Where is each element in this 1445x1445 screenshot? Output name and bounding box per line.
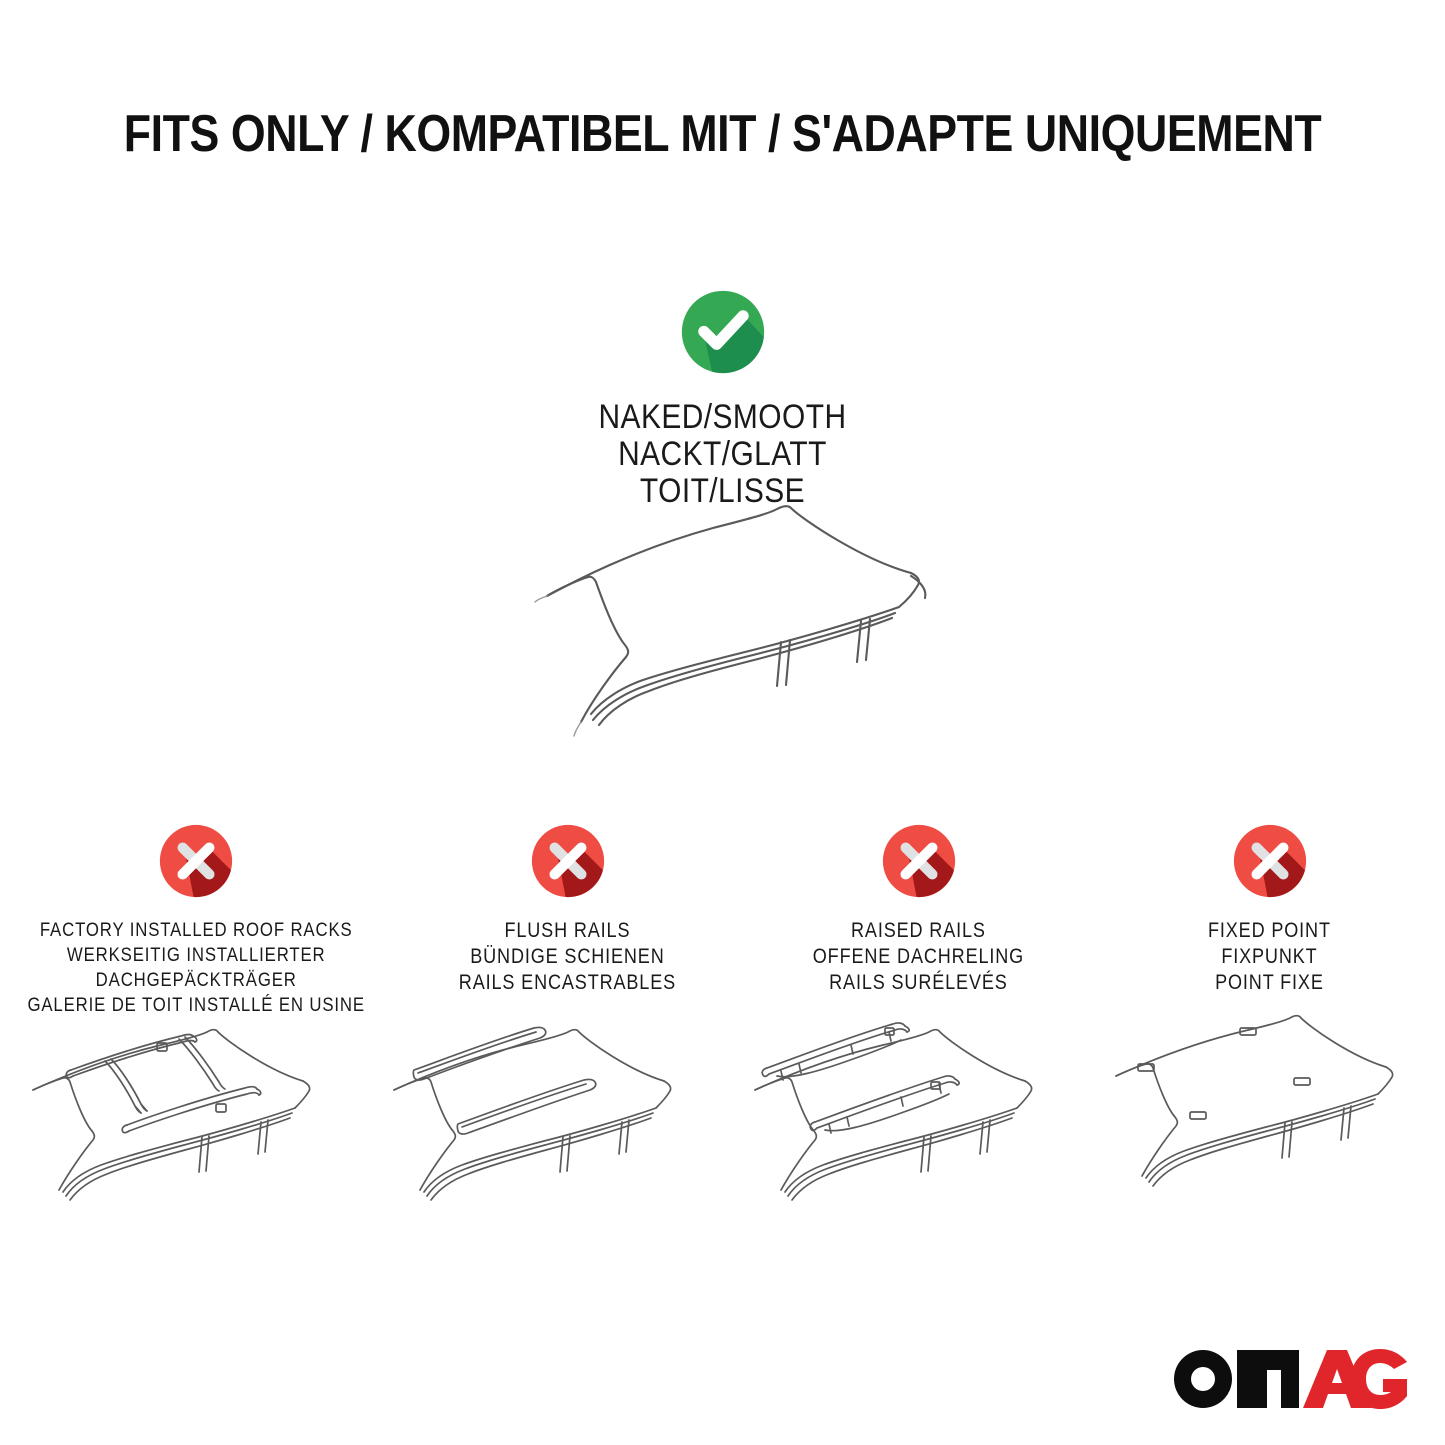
compatibility-infographic: FITS ONLY / KOMPATIBEL MIT / S'ADAPTE UN… — [0, 0, 1445, 1445]
compatible-section: NAKED/SMOOTH NACKT/GLATT TOIT/LISSE — [0, 283, 1445, 510]
cross-circle-icon — [153, 818, 239, 904]
car-roof-flush-rails-illustration — [361, 1012, 722, 1242]
incompatible-label-en: FLUSH RAILS — [417, 918, 719, 944]
incompatible-item-flush-rails: FLUSH RAILS BÜNDIGE SCHIENEN RAILS ENCAS… — [392, 818, 743, 996]
incompatible-label-fr: POINT FIXE — [1119, 970, 1421, 996]
incompatible-label-de-2: DACHGEPÄCKTRÄGER — [27, 968, 364, 993]
incompatible-label-fr: RAILS ENCASTRABLES — [417, 970, 719, 996]
car-roof-raised-rails-illustration — [723, 1012, 1084, 1242]
incompatible-label-de: FIXPUNKT — [1119, 944, 1421, 970]
incompatible-item-factory-roof-racks: FACTORY INSTALLED ROOF RACKS WERKSEITIG … — [0, 818, 392, 1018]
cross-circle-icon — [1227, 818, 1313, 904]
compatible-label-de: NACKT/GLATT — [87, 436, 1359, 473]
incompatible-label-de-1: WERKSEITIG INSTALLIERTER — [27, 943, 364, 968]
incompatible-row: FACTORY INSTALLED ROOF RACKS WERKSEITIG … — [0, 818, 1445, 1018]
cross-circle-icon — [876, 818, 962, 904]
page-title: FITS ONLY / KOMPATIBEL MIT / S'ADAPTE UN… — [101, 103, 1344, 165]
incompatible-labels: FLUSH RAILS BÜNDIGE SCHIENEN RAILS ENCAS… — [417, 918, 719, 996]
car-roof-fixed-point-illustration — [1084, 1012, 1445, 1242]
incompatible-label-de: OFFENE DACHRELING — [768, 944, 1070, 970]
incompatible-label-fr: RAILS SURÉLEVÉS — [768, 970, 1070, 996]
incompatible-labels: FACTORY INSTALLED ROOF RACKS WERKSEITIG … — [27, 918, 364, 1018]
incompatible-labels: RAISED RAILS OFFENE DACHRELING RAILS SUR… — [768, 918, 1070, 996]
incompatible-item-raised-rails: RAISED RAILS OFFENE DACHRELING RAILS SUR… — [743, 818, 1094, 996]
car-roof-factory-roof-racks-illustration — [0, 1012, 361, 1242]
incompatible-item-fixed-point: FIXED POINT FIXPUNKT POINT FIXE — [1094, 818, 1445, 996]
car-roof-naked-smooth-illustration — [0, 490, 1445, 745]
incompatible-label-de: BÜNDIGE SCHIENEN — [417, 944, 719, 970]
compatible-label-en: NAKED/SMOOTH — [87, 399, 1359, 436]
cross-circle-icon — [525, 818, 611, 904]
incompatible-label-en: FIXED POINT — [1119, 918, 1421, 944]
incompatible-labels: FIXED POINT FIXPUNKT POINT FIXE — [1119, 918, 1421, 996]
incompatible-label-en: RAISED RAILS — [768, 918, 1070, 944]
check-circle-icon — [674, 283, 772, 381]
incompatible-illustrations-row — [0, 1012, 1445, 1242]
omac-logo — [1171, 1349, 1407, 1409]
incompatible-label-en: FACTORY INSTALLED ROOF RACKS — [27, 918, 364, 943]
